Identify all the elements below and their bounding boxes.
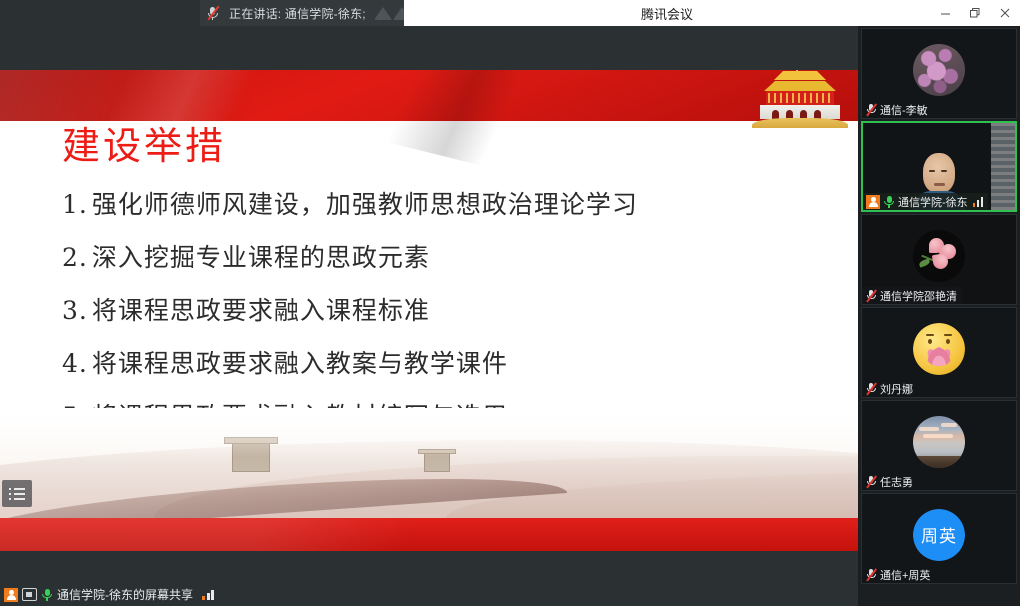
participant-tile[interactable]: 通信-李敏 — [861, 28, 1017, 119]
slide-footer-bar — [0, 518, 858, 551]
host-person-icon — [866, 195, 880, 209]
participant-name: 通信学院-徐东 — [898, 194, 968, 210]
microphone-muted-icon — [865, 382, 877, 395]
microphone-muted-icon — [865, 475, 877, 488]
participant-tile[interactable]: 任志勇 — [861, 400, 1017, 491]
presentation-slide: 建设举措 1.强化师德师风建设，加强教师思想政治理论学习 2.深入挖掘专业课程的… — [0, 70, 858, 551]
list-item-number: 1. — [62, 190, 88, 219]
shared-screen-stage[interactable]: 建设举措 1.强化师德师风建设，加强教师思想政治理论学习 2.深入挖掘专业课程的… — [0, 26, 858, 583]
list-item-text: 将课程思政要求融入课程标准 — [92, 296, 430, 325]
screen-share-status-bar: 通信学院-徐东的屏幕共享 — [0, 583, 858, 606]
microphone-muted-icon — [865, 103, 877, 116]
slide-header-banner — [0, 70, 858, 121]
screen-share-indicator-icon — [374, 7, 404, 20]
tiananmen-gate-illustration — [752, 70, 848, 127]
list-item: 4.将课程思政要求融入教案与教学课件 — [62, 351, 822, 376]
avatar-initials: 周英 — [913, 509, 965, 561]
app-title-tab[interactable]: 腾讯会议 — [404, 0, 930, 26]
participant-name-chip: 刘丹娜 — [862, 380, 918, 397]
title-bar: 正在讲话: 通信学院-徐东; 腾讯会议 — [0, 0, 1020, 26]
participant-name: 通信-李敏 — [880, 102, 928, 118]
list-item: 3.将课程思政要求融入课程标准 — [62, 298, 822, 323]
list-item: 1.强化师德师风建设，加强教师思想政治理论学习 — [62, 192, 822, 217]
microphone-muted-icon — [865, 289, 877, 302]
participant-name: 刘丹娜 — [880, 381, 913, 397]
slide-menu-icon[interactable] — [2, 480, 32, 507]
list-item-number: 4. — [62, 349, 88, 378]
minimize-button[interactable] — [930, 0, 960, 26]
window-controls — [930, 0, 1020, 26]
slide-title: 建设举措 — [62, 127, 226, 165]
participant-tile[interactable]: 刘丹娜 — [861, 307, 1017, 398]
list-item-number: 2. — [62, 243, 88, 272]
participant-tile[interactable]: 通信学院邵艳清 — [861, 214, 1017, 305]
share-status-text: 通信学院-徐东的屏幕共享 — [57, 586, 193, 603]
avatar — [913, 230, 965, 282]
participant-name-chip: 通信学院-徐东 — [863, 193, 988, 210]
microphone-on-icon — [41, 588, 53, 602]
microphone-on-icon — [883, 195, 895, 209]
participant-tile[interactable]: 周英 通信+周英 — [861, 493, 1017, 584]
list-item-text: 强化师德师风建设，加强教师思想政治理论学习 — [92, 190, 638, 219]
avatar — [913, 44, 965, 96]
participant-name-chip: 任志勇 — [862, 473, 918, 490]
participant-name: 通信+周英 — [880, 567, 930, 583]
great-wall-watermark — [0, 408, 858, 518]
host-person-icon — [4, 588, 18, 602]
participant-tile-active-speaker[interactable]: 通信学院-徐东 — [861, 121, 1017, 212]
participant-name-chip: 通信学院邵艳清 — [862, 287, 962, 304]
participant-name: 通信学院邵艳清 — [880, 288, 957, 304]
title-bar-spacer — [0, 0, 200, 26]
audio-level-icon — [202, 589, 214, 600]
audio-level-icon — [973, 196, 984, 207]
microphone-muted-icon — [206, 6, 219, 21]
app-title: 腾讯会议 — [641, 4, 693, 23]
microphone-muted-icon — [865, 568, 877, 581]
participant-rail[interactable]: 通信-李敏 通信学院-徐东 — [858, 26, 1020, 606]
list-item-text: 深入挖掘专业课程的思政元素 — [92, 243, 430, 272]
avatar: 周英 — [913, 509, 965, 561]
avatar — [913, 323, 965, 375]
list-item: 2.深入挖掘专业课程的思政元素 — [62, 245, 822, 270]
meeting-window: 正在讲话: 通信学院-徐东; 腾讯会议 — [0, 0, 1020, 606]
participant-name-chip: 通信-李敏 — [862, 101, 933, 118]
restore-button[interactable] — [960, 0, 990, 26]
speaking-indicator-tab[interactable]: 正在讲话: 通信学院-徐东; — [200, 0, 404, 26]
screen-share-icon — [22, 588, 37, 601]
list-item-text: 将课程思政要求融入教案与教学课件 — [92, 349, 508, 378]
close-button[interactable] — [990, 0, 1020, 26]
speaking-label: 正在讲话: 通信学院-徐东; — [229, 5, 366, 22]
participant-name-chip: 通信+周英 — [862, 566, 935, 583]
avatar — [913, 416, 965, 468]
list-item-number: 3. — [62, 296, 88, 325]
participant-name: 任志勇 — [880, 474, 913, 490]
